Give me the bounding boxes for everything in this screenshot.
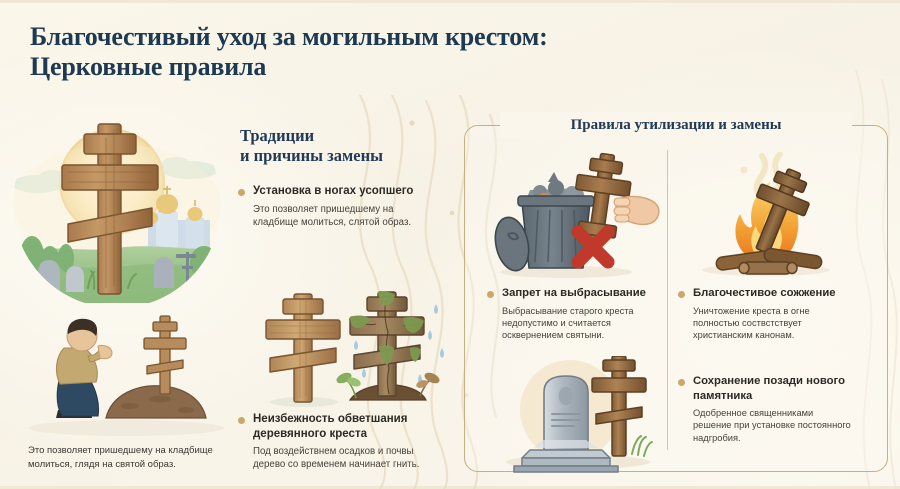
weathered-cross [335,291,444,400]
praying-man [56,319,112,418]
bullet-body: Уничтожение креста в огне полностью сост… [693,305,858,342]
new-cross [266,294,340,407]
infographic-root: Благочестивый уход за могильным крестом:… [0,0,900,489]
middle-heading: Традиции и причины замены [240,126,440,166]
panel-title-container: Правила утилизации и замены [500,112,852,138]
bullet-body: Под воздействнем осадков и почвы дерево … [253,445,446,471]
new-vs-weathered-cross-illustration [240,286,454,410]
middle-heading-line-2: и причины замены [240,146,440,166]
grave-cross [144,316,186,394]
middle-heading-line-1: Традиции [240,126,440,146]
panel-title: Правила утилизации и замены [571,117,782,134]
bullet-dot-icon [238,189,245,196]
top-border-line [0,0,900,3]
title-line-2: Церковные правила [30,52,570,82]
bullet-dot-icon [678,379,685,386]
bullet-dot-icon [487,291,494,298]
bullet-dot-icon [238,417,245,424]
bullet-body: Это позволяет пришедшему на кладбище мол… [253,203,436,229]
orthodox-cross-cemetery-sunrise-illustration [8,108,226,303]
bullet-dot-icon [678,291,685,298]
page-title: Благочестивый уход за могильным крестом:… [30,22,570,82]
bullet-title: Неизбежность обветшания деревянного крес… [253,412,446,441]
panel-vertical-divider [667,150,668,450]
man-praying-at-grave-illustration [20,300,232,442]
bullet-title: Сохранение позади нового памятника [693,374,853,403]
middle-bullet-item-1: Установка в ногах усопшего Это позволяет… [238,184,436,229]
middle-bullet-item-2: Неизбежность обветшания деревянного крес… [238,412,446,471]
panel-bullet-item-3: Сохранение позади нового памятника Одобр… [678,374,853,444]
panel-bullet-item-1: Запрет на выбрасывание Выбрасывание стар… [487,286,662,342]
left-caption: Это позволяет пришедшему на кладбище мол… [28,444,228,471]
panel-bullet-item-2: Благочестивое сожжение Уничтожение крест… [678,286,858,342]
bullet-body: Выбрасывание старого креста недопустимо … [502,305,662,342]
title-line-1: Благочестивый уход за могильным крестом: [30,22,570,52]
bullet-title: Благочестивое сожжение [693,286,858,301]
bonfire-burning-cross-illustration [678,152,858,280]
bullet-title: Запрет на выбрасывание [502,286,662,301]
granite-monument-with-cross-illustration [486,356,664,474]
trash-bin-cross-prohibited-illustration [486,152,662,280]
rain-drops [354,304,444,384]
bullet-title: Установка в ногах усопшего [253,184,436,199]
bullet-body: Одобренное священниками решение при уста… [693,407,853,444]
